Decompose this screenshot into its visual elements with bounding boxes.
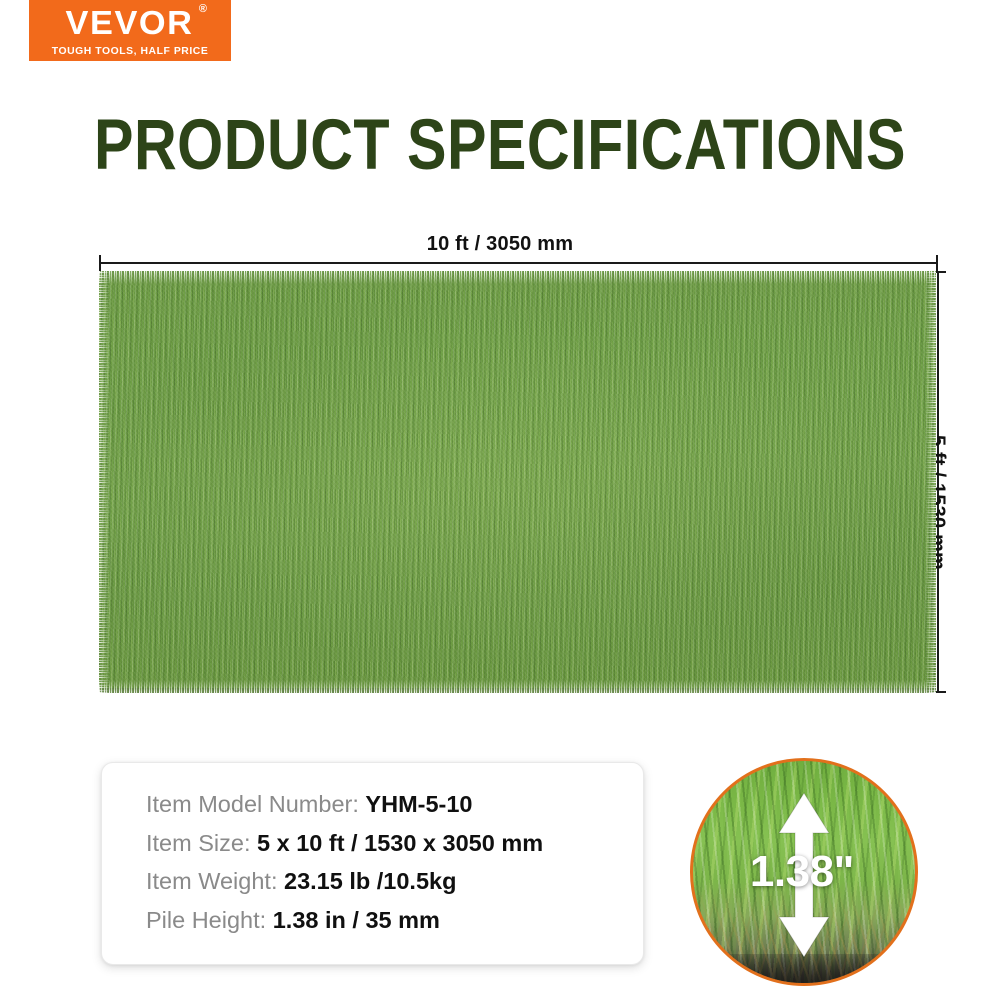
spec-label: Item Size: bbox=[146, 830, 250, 856]
registered-trademark-icon: ® bbox=[199, 4, 207, 15]
width-dimension-cap-right bbox=[936, 255, 938, 271]
specifications-card: Item Model Number: YHM-5-10 Item Size: 5… bbox=[101, 762, 644, 965]
grass-edge-top bbox=[99, 271, 936, 284]
spec-row: Pile Height: 1.38 in / 35 mm bbox=[146, 901, 643, 940]
width-dimension-label: 10 ft / 3050 mm bbox=[0, 233, 1000, 256]
spec-value: YHM-5-10 bbox=[365, 791, 472, 817]
grass-edge-left bbox=[99, 271, 110, 693]
spec-label: Pile Height: bbox=[146, 907, 266, 933]
spec-label: Item Model Number: bbox=[146, 791, 359, 817]
grass-noise-texture bbox=[99, 271, 936, 693]
spec-value: 1.38 in / 35 mm bbox=[273, 907, 440, 933]
spec-row: Item Weight: 23.15 lb /10.5kg bbox=[146, 862, 643, 901]
spec-label: Item Weight: bbox=[146, 868, 277, 894]
brand-tagline: TOUGH TOOLS, HALF PRICE bbox=[52, 46, 209, 57]
width-dimension-line bbox=[99, 262, 938, 264]
grass-edge-right bbox=[925, 271, 936, 693]
width-dimension-cap-left bbox=[99, 255, 101, 271]
brand-wordmark: VEVOR® bbox=[66, 6, 194, 39]
pile-height-closeup: 1.38" bbox=[690, 758, 918, 986]
spec-row: Item Model Number: YHM-5-10 bbox=[146, 785, 643, 824]
spec-value: 5 x 10 ft / 1530 x 3050 mm bbox=[257, 830, 543, 856]
product-image-grass-mat bbox=[99, 271, 936, 693]
brand-name: VEVOR bbox=[66, 4, 194, 41]
page-title: PRODUCT SPECIFICATIONS bbox=[30, 104, 970, 186]
vevor-logo: VEVOR® TOUGH TOOLS, HALF PRICE bbox=[29, 0, 231, 61]
pile-height-measurement: 1.38" bbox=[750, 847, 854, 897]
spec-row: Item Size: 5 x 10 ft / 1530 x 3050 mm bbox=[146, 824, 643, 863]
spec-value: 23.15 lb /10.5kg bbox=[284, 868, 456, 894]
grass-edge-bottom bbox=[99, 680, 936, 693]
